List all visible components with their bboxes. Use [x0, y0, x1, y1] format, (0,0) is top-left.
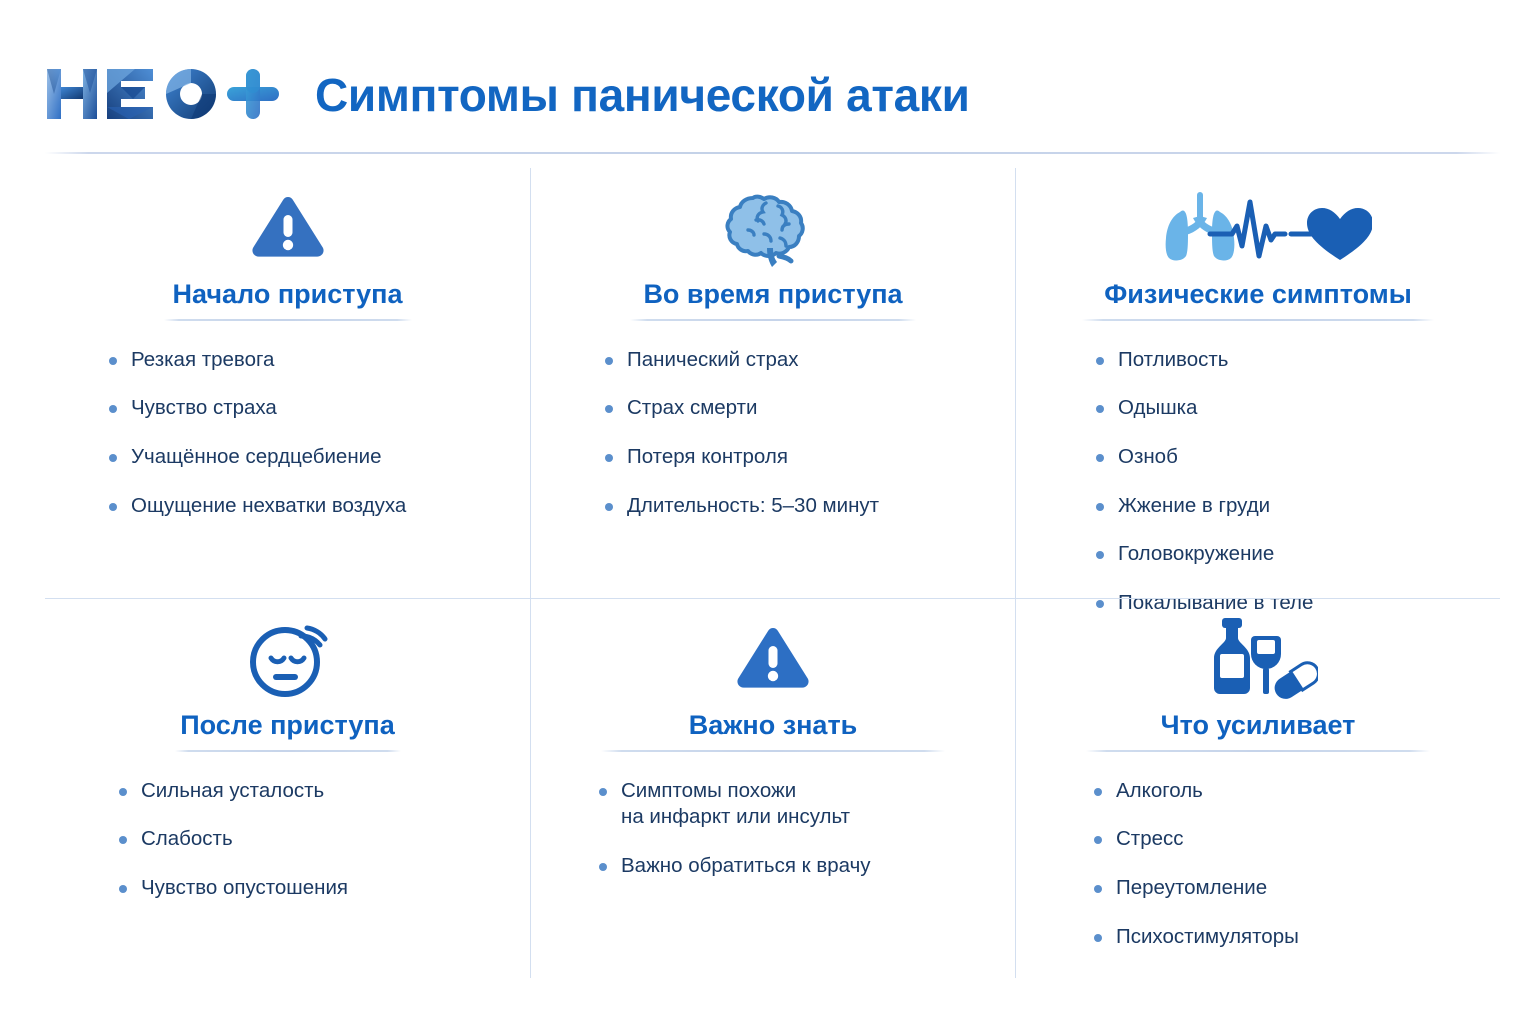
card-what-worsens: Что усиливает Алкоголь Стресс Переутомле…: [1015, 598, 1500, 978]
list-item: Сильная усталость: [115, 778, 504, 805]
list-item: Важно обратиться к врачу: [595, 853, 989, 880]
warning-triangle-icon: [557, 613, 989, 705]
list-item: Переутомление: [1090, 875, 1474, 902]
header-divider: [45, 152, 1500, 154]
symptom-list: Панический страх Страх смерти Потеря кон…: [557, 347, 989, 520]
list-item: Ощущение нехватки воздуха: [105, 493, 504, 520]
page-title: Симптомы панической атаки: [315, 72, 970, 118]
list-item: Слабость: [115, 826, 504, 853]
card-heading: После приступа: [71, 711, 504, 741]
list-item: Стресс: [1090, 826, 1474, 853]
list-item: Чувство страха: [105, 395, 504, 422]
heading-underline: [1086, 750, 1430, 752]
card-attack-onset: Начало приступа Резкая тревога Чувство с…: [45, 168, 530, 598]
card-heading: Начало приступа: [71, 280, 504, 310]
list-item-line1: Симптомы похожи: [621, 779, 796, 802]
card-heading: Во время приступа: [557, 280, 989, 310]
heo-plus-logo: [45, 63, 281, 125]
card-after-attack: После приступа Сильная усталость Слабост…: [45, 598, 530, 978]
brain-icon: [557, 182, 989, 274]
list-item: Страх смерти: [601, 395, 989, 422]
symptom-list: Резкая тревога Чувство страха Учащённое …: [71, 347, 504, 520]
list-item: Чувство опустошения: [115, 875, 504, 902]
heading-underline: [630, 319, 916, 321]
infographic-page: Симптомы панической атаки Начало приступ…: [0, 0, 1536, 1024]
heading-underline: [1082, 319, 1434, 321]
list-item: Озноб: [1092, 444, 1474, 471]
tired-face-icon: [71, 613, 504, 705]
list-item: Алкоголь: [1090, 778, 1474, 805]
card-heading: Важно знать: [557, 711, 989, 741]
list-item: Длительность: 5–30 минут: [601, 493, 989, 520]
heading-underline: [175, 750, 401, 752]
list-item: Головокружение: [1092, 541, 1474, 568]
symptom-list: Алкоголь Стресс Переутомление Психостиму…: [1042, 778, 1474, 951]
list-item: Потливость: [1092, 347, 1474, 374]
card-important-to-know: Важно знать Симптомы похожи на инфаркт и…: [530, 598, 1015, 978]
list-item-line2: на инфаркт или инсульт: [621, 804, 989, 831]
list-item: Учащённое сердцебиение: [105, 444, 504, 471]
card-during-attack: Во время приступа Панический страх Страх…: [530, 168, 1015, 598]
symptom-list: Симптомы похожи на инфаркт или инсульт В…: [557, 778, 989, 880]
list-item: Психостимуляторы: [1090, 924, 1474, 951]
symptom-list: Сильная усталость Слабость Чувство опуст…: [71, 778, 504, 902]
list-item: Симптомы похожи на инфаркт или инсульт: [595, 778, 989, 831]
card-physical-symptoms: Физические симптомы Потливость Одышка Оз…: [1015, 168, 1500, 598]
card-heading: Что усиливает: [1042, 711, 1474, 741]
symptom-list: Потливость Одышка Озноб Жжение в груди Г…: [1042, 347, 1474, 617]
list-item: Одышка: [1092, 395, 1474, 422]
list-item: Резкая тревога: [105, 347, 504, 374]
warning-triangle-icon: [71, 182, 504, 274]
cards-grid: Начало приступа Резкая тревога Чувство с…: [45, 168, 1500, 978]
list-item: Панический страх: [601, 347, 989, 374]
bottle-glass-pill-icon: [1042, 613, 1474, 705]
lungs-heartbeat-heart-icon: [1042, 182, 1474, 274]
list-item: Потеря контроля: [601, 444, 989, 471]
card-heading: Физические симптомы: [1042, 280, 1474, 310]
heading-underline: [601, 750, 945, 752]
heading-underline: [164, 319, 412, 321]
list-item: Жжение в груди: [1092, 493, 1474, 520]
page-header: Симптомы панической атаки: [45, 46, 1500, 142]
